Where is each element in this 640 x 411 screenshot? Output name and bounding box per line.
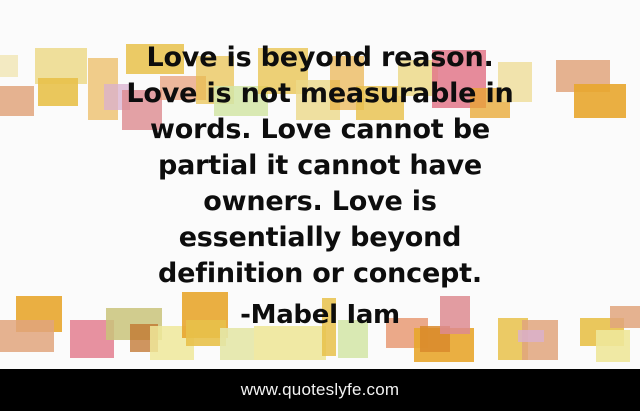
quote-text-block: Love is beyond reason. Love is not measu… <box>0 40 640 292</box>
rect-b9 <box>220 328 254 360</box>
quote-card: Love is beyond reason. Love is not measu… <box>0 0 640 411</box>
quote-line: Love is not measurable in <box>0 76 640 112</box>
quote-line: definition or concept. <box>0 256 640 292</box>
rect-b14 <box>414 328 474 362</box>
rect-b21 <box>596 330 630 362</box>
quote-line: words. Love cannot be <box>0 112 640 148</box>
quote-line: partial it cannot have <box>0 148 640 184</box>
footer-bar: www.quoteslyfe.com <box>0 369 640 411</box>
quote-line: Love is beyond reason. <box>0 40 640 76</box>
quote-line: essentially beyond <box>0 220 640 256</box>
quote-author: -Mabel Iam <box>0 298 640 332</box>
quote-line: owners. Love is <box>0 184 640 220</box>
footer-website-url[interactable]: www.quoteslyfe.com <box>241 380 400 400</box>
